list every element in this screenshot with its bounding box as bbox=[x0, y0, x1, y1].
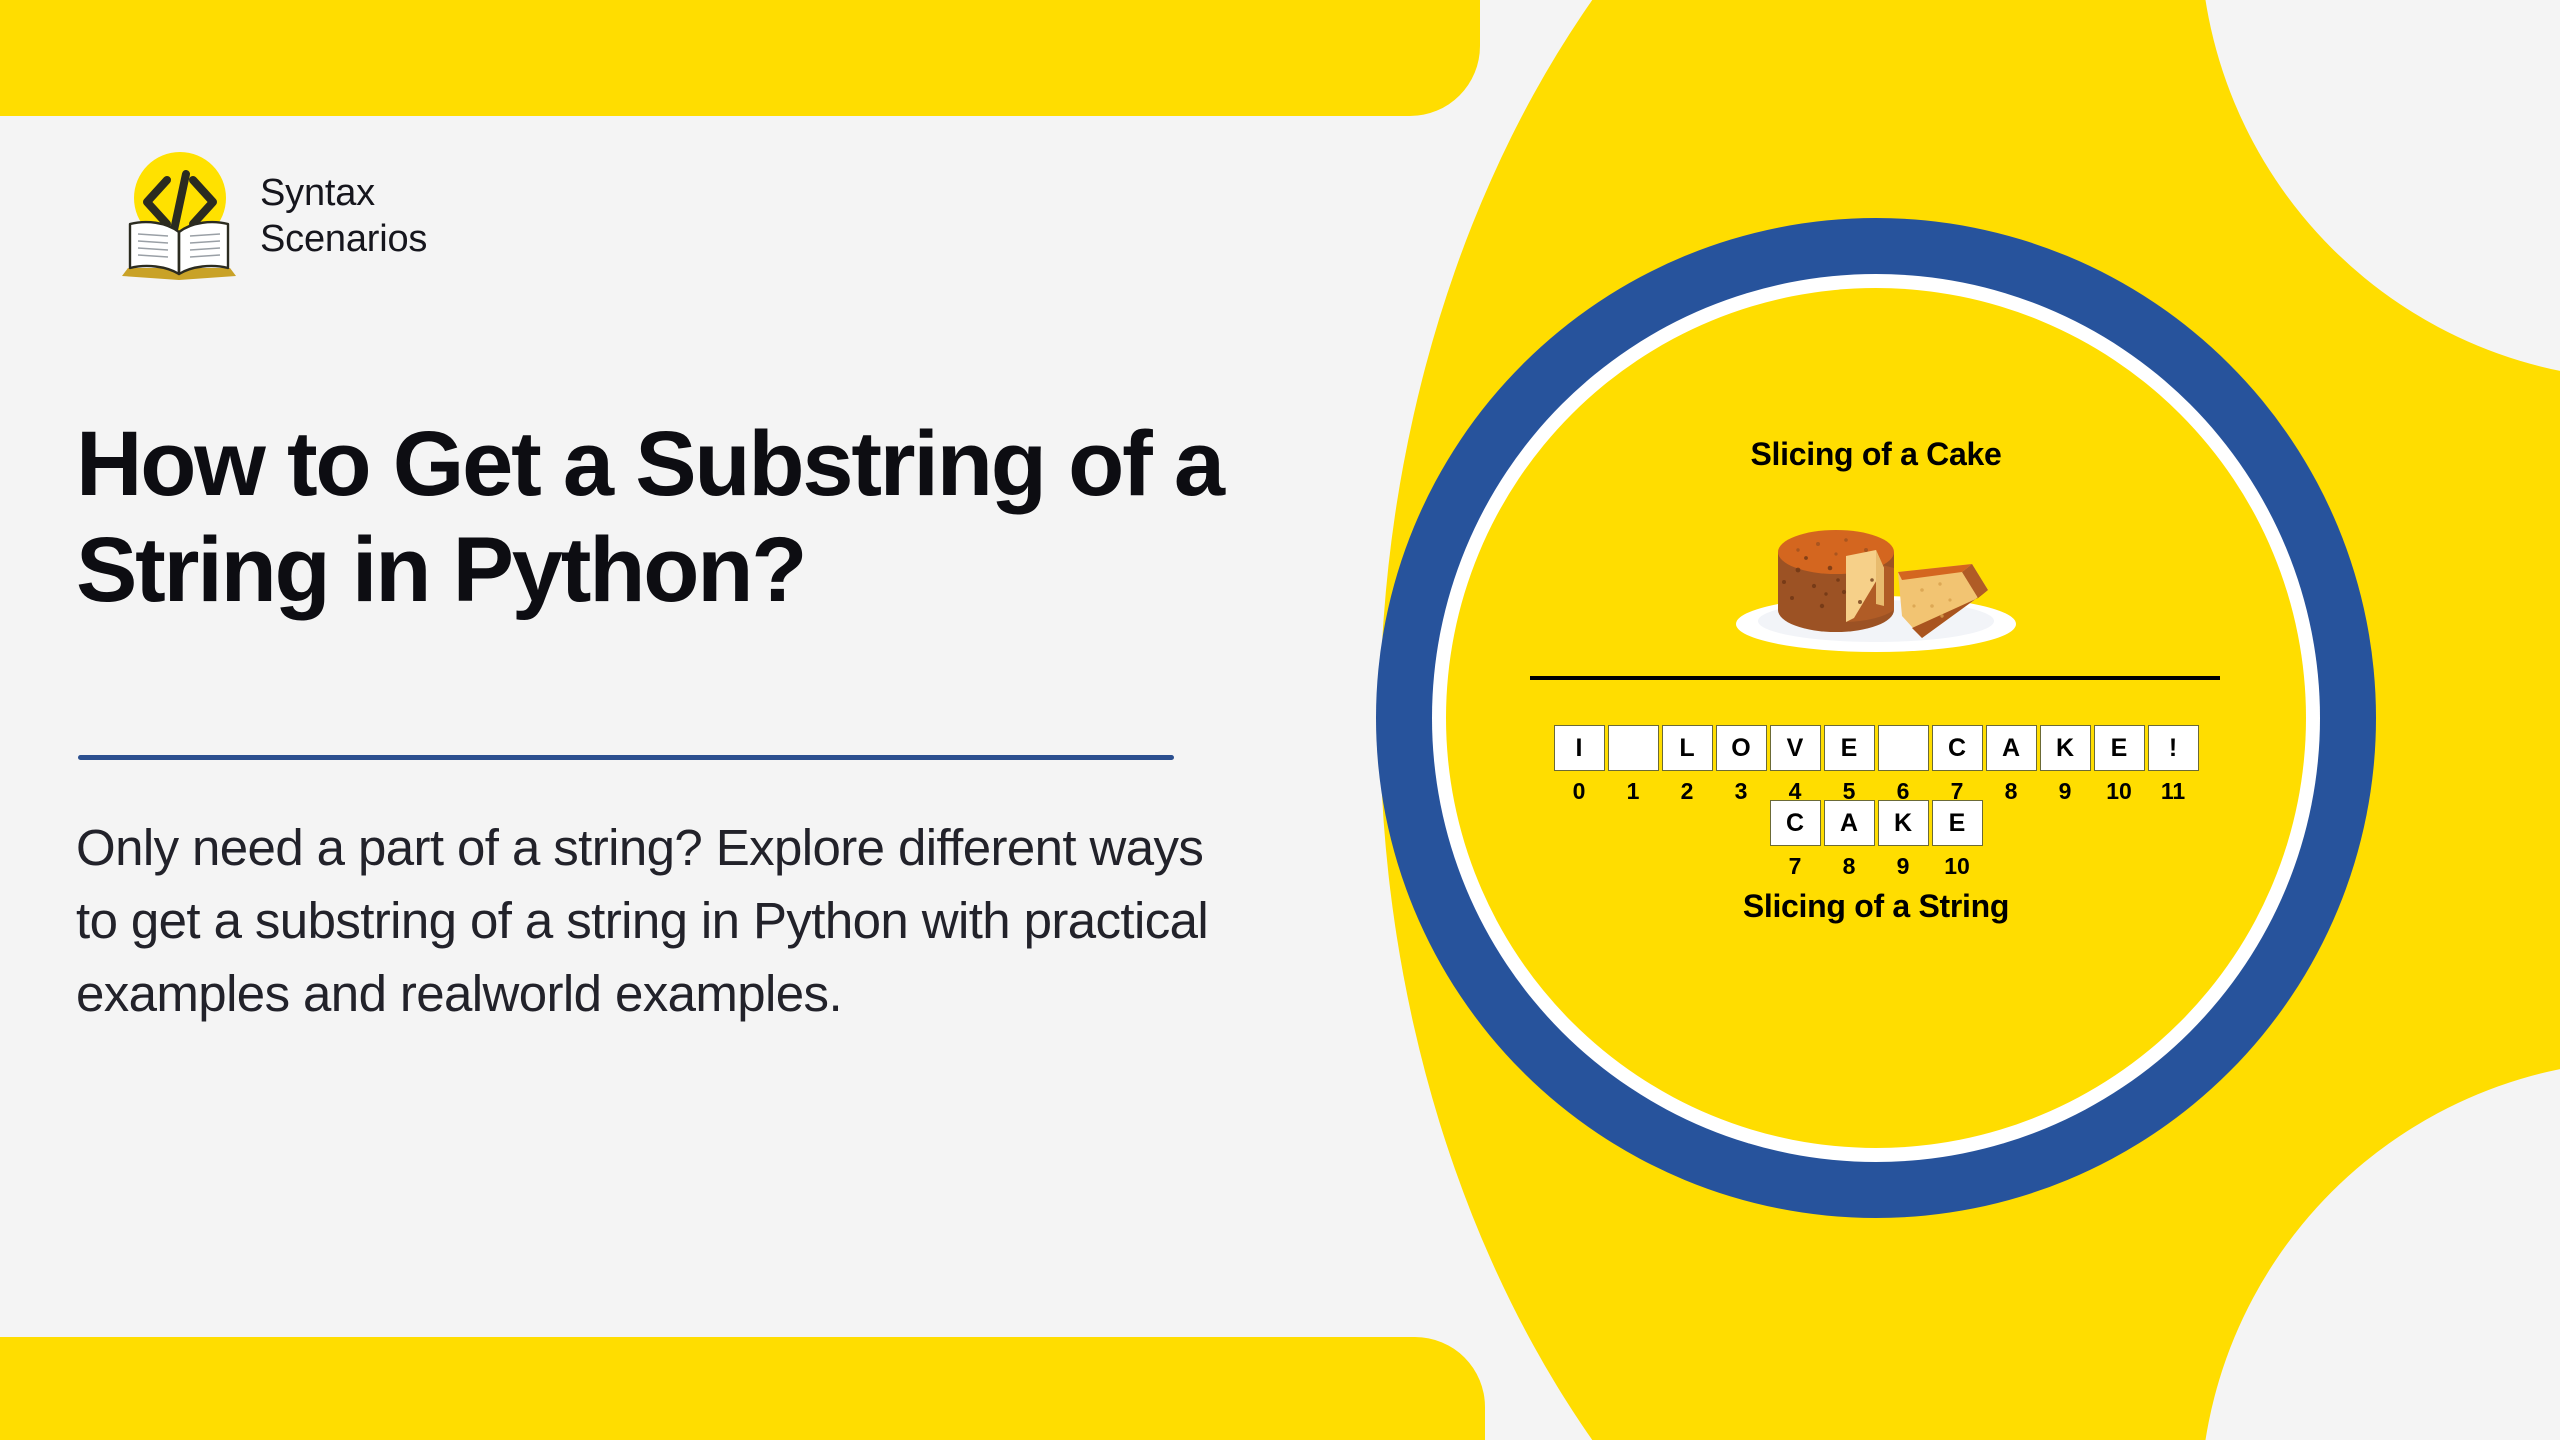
substring-index-label: 10 bbox=[1932, 853, 1983, 880]
logo-mark bbox=[120, 152, 238, 280]
brand-name-line2: Scenarios bbox=[260, 216, 427, 262]
substring-index-label: 9 bbox=[1878, 853, 1929, 880]
poster-canvas: Syntax Scenarios How to Get a Substring … bbox=[0, 0, 2560, 1440]
substring-index-label: 8 bbox=[1824, 853, 1875, 880]
string-letter-cell: O bbox=[1716, 725, 1767, 771]
brand-name: Syntax Scenarios bbox=[260, 170, 427, 263]
string-letter-cell: V bbox=[1770, 725, 1821, 771]
yellow-band-bottom bbox=[0, 1337, 1485, 1440]
substring-letter-cell: A bbox=[1824, 800, 1875, 846]
cake-section-title: Slicing of a Cake bbox=[1446, 436, 2306, 473]
substring-letter-cell: E bbox=[1932, 800, 1983, 846]
string-letter-cell: C bbox=[1932, 725, 1983, 771]
string-letter-cell: ! bbox=[2148, 725, 2199, 771]
page-title: How to Get a Substring of a String in Py… bbox=[76, 412, 1326, 624]
full-string-letter-row: ILOVECAKE! bbox=[1446, 725, 2306, 771]
string-letter-cell: I bbox=[1554, 725, 1605, 771]
string-section-title: Slicing of a String bbox=[1446, 888, 2306, 925]
illustration-separator bbox=[1530, 676, 2220, 680]
sliced-cake-icon bbox=[1726, 506, 2026, 656]
string-letter-cell: E bbox=[2094, 725, 2145, 771]
string-letter-cell: E bbox=[1824, 725, 1875, 771]
string-letter-cell: A bbox=[1986, 725, 2037, 771]
string-letter-cell bbox=[1878, 725, 1929, 771]
string-letter-cell: K bbox=[2040, 725, 2091, 771]
substring-letter-cell: C bbox=[1770, 800, 1821, 846]
string-letter-cell bbox=[1608, 725, 1659, 771]
brand-name-line1: Syntax bbox=[260, 170, 427, 216]
brand-logo[interactable]: Syntax Scenarios bbox=[120, 152, 427, 280]
substring-letter-cell: K bbox=[1878, 800, 1929, 846]
string-letter-cell: L bbox=[1662, 725, 1713, 771]
illustration-circle: Slicing of a Cake bbox=[1376, 218, 2376, 1218]
title-divider bbox=[78, 755, 1174, 760]
substring-index-row: 78910 bbox=[1446, 853, 2306, 880]
substring-letter-row: CAKE bbox=[1446, 800, 2306, 846]
open-book-icon bbox=[120, 214, 238, 280]
substring-index-label: 7 bbox=[1770, 853, 1821, 880]
illustration-circle-inner: Slicing of a Cake bbox=[1446, 288, 2306, 1148]
yellow-band-top bbox=[0, 0, 1480, 116]
page-subtitle: Only need a part of a string? Explore di… bbox=[76, 812, 1216, 1031]
